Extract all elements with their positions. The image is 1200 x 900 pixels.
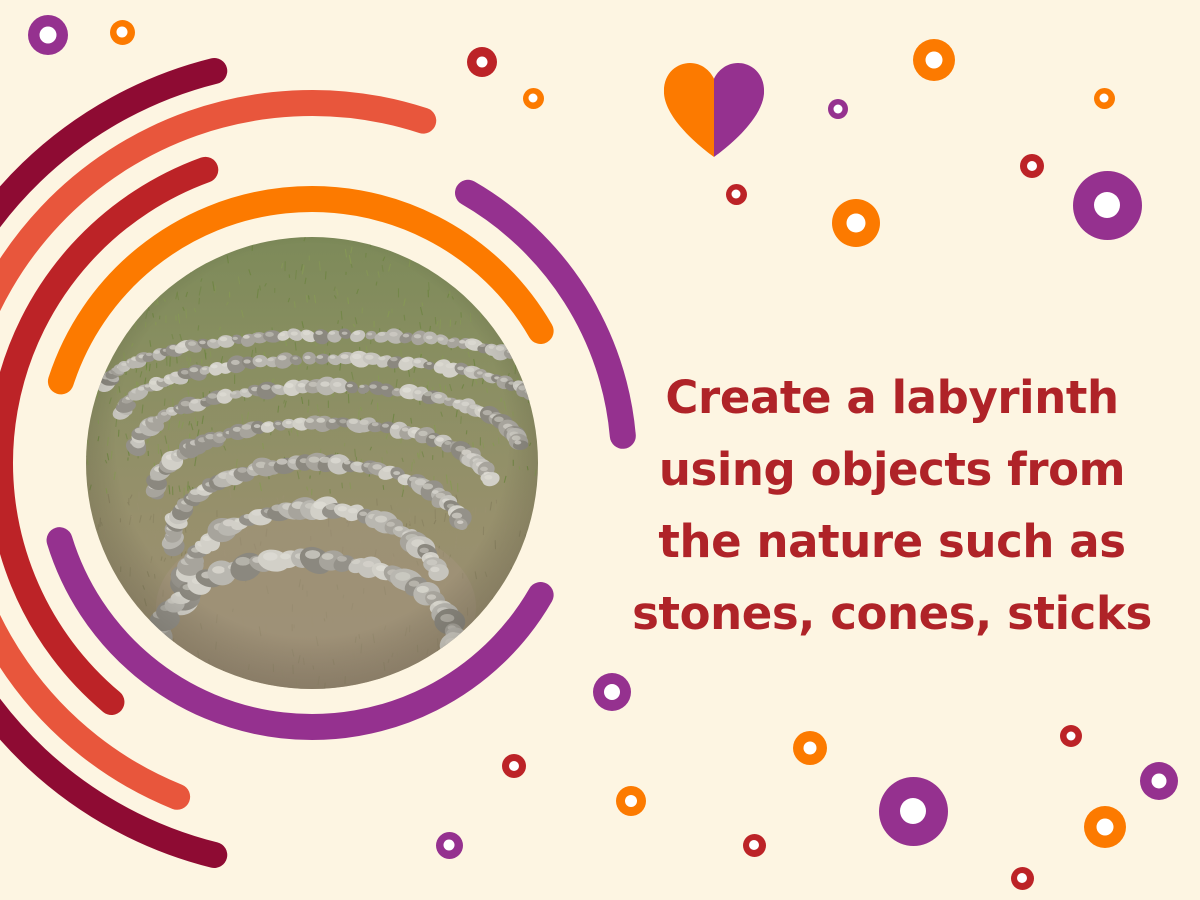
dot-orange-top-mid bbox=[523, 88, 544, 109]
dot-orange-top-left bbox=[110, 20, 135, 45]
message-line-3: the nature such as bbox=[612, 506, 1172, 578]
dot-hole bbox=[900, 798, 926, 824]
dot-hole bbox=[1094, 192, 1120, 218]
dot-hole bbox=[926, 52, 943, 69]
dot-purple-bottom-big bbox=[879, 777, 948, 846]
dot-purple-bottom-rt bbox=[1140, 762, 1178, 800]
dot-red-below-heart bbox=[726, 184, 747, 205]
dot-orange-top-right bbox=[913, 39, 955, 81]
dot-purple-left-bottom bbox=[436, 832, 463, 859]
dot-hole bbox=[40, 27, 57, 44]
dot-hole bbox=[117, 27, 128, 38]
dot-red-bottom-left bbox=[502, 754, 526, 778]
message-line-1: Create a labyrinth bbox=[612, 362, 1172, 434]
dot-orange-bottom-rt bbox=[793, 731, 827, 765]
message-line-2: using objects from bbox=[612, 434, 1172, 506]
dot-hole bbox=[625, 795, 637, 807]
dot-hole bbox=[1152, 774, 1167, 789]
dot-red-bottom-edge bbox=[1011, 867, 1034, 890]
dot-hole bbox=[847, 214, 866, 233]
dot-purple-large-right bbox=[1073, 171, 1142, 240]
dot-purple-right-top bbox=[828, 99, 848, 119]
dot-red-bottom-far bbox=[1060, 725, 1082, 747]
dot-hole bbox=[834, 105, 843, 114]
dot-hole bbox=[804, 742, 817, 755]
dot-orange-small-right bbox=[1094, 88, 1115, 109]
dot-orange-large-right bbox=[832, 199, 880, 247]
dot-hole bbox=[1017, 873, 1027, 883]
dot-red-bottom-center bbox=[743, 834, 766, 857]
dot-hole bbox=[1067, 732, 1076, 741]
dot-hole bbox=[477, 57, 488, 68]
poster-canvas: Create a labyrinth using objects from th… bbox=[0, 0, 1200, 900]
dot-red-right-upper bbox=[1020, 154, 1044, 178]
message-line-4: stones, cones, sticks bbox=[612, 578, 1172, 650]
dot-purple-top-left bbox=[28, 15, 68, 55]
dot-hole bbox=[1100, 94, 1109, 103]
dot-hole bbox=[732, 190, 741, 199]
dot-orange-bottom-mid bbox=[616, 786, 646, 816]
dot-hole bbox=[749, 840, 759, 850]
activity-message: Create a labyrinth using objects from th… bbox=[612, 362, 1172, 650]
dot-hole bbox=[604, 684, 620, 700]
dot-hole bbox=[509, 761, 519, 771]
dot-hole bbox=[444, 840, 455, 851]
dot-purple-bottom-mid bbox=[593, 673, 631, 711]
dot-orange-bottom-far bbox=[1084, 806, 1126, 848]
dot-hole bbox=[529, 94, 538, 103]
dot-hole bbox=[1027, 161, 1037, 171]
dot-red-top-mid bbox=[467, 47, 497, 77]
dot-hole bbox=[1097, 819, 1114, 836]
